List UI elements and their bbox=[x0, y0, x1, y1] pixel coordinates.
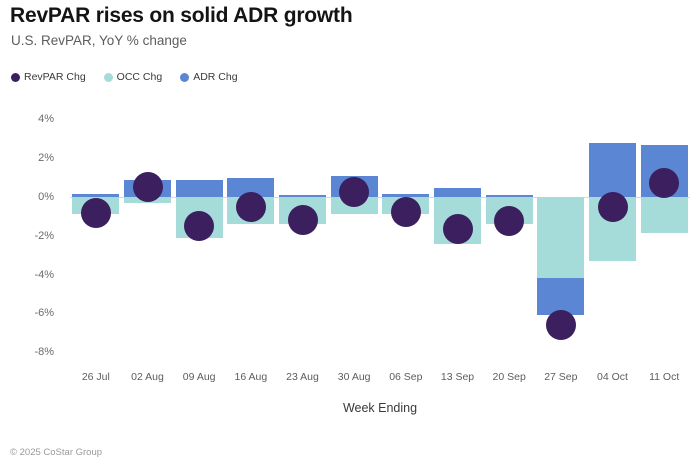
marker-revpar bbox=[288, 205, 318, 235]
x-axis-tick-label: 27 Sep bbox=[544, 371, 577, 383]
y-axis-tick-label: 2% bbox=[12, 152, 54, 164]
marker-revpar bbox=[494, 206, 524, 236]
y-axis-tick-label: -2% bbox=[12, 230, 54, 242]
marker-revpar bbox=[133, 172, 163, 202]
marker-revpar bbox=[339, 177, 369, 207]
bar-adr bbox=[589, 143, 636, 197]
y-axis-tick-label: -8% bbox=[12, 346, 54, 358]
marker-revpar bbox=[649, 168, 679, 198]
x-axis-tick-label: 11 Oct bbox=[649, 371, 679, 383]
x-axis-tick-label: 20 Sep bbox=[493, 371, 526, 383]
x-axis-tick-label: 06 Sep bbox=[389, 371, 422, 383]
y-axis-tick-label: -6% bbox=[12, 307, 54, 319]
bar-adr bbox=[176, 180, 223, 197]
marker-revpar bbox=[184, 211, 214, 241]
y-axis-tick-label: 0% bbox=[12, 191, 54, 203]
marker-revpar bbox=[81, 198, 111, 228]
bar-adr bbox=[486, 195, 533, 197]
marker-revpar bbox=[391, 197, 421, 227]
marker-revpar bbox=[546, 310, 576, 340]
x-axis-tick-label: 30 Aug bbox=[338, 371, 371, 383]
x-axis-tick-label: 26 Jul bbox=[82, 371, 110, 383]
marker-revpar bbox=[598, 192, 628, 222]
marker-revpar bbox=[443, 214, 473, 244]
x-axis-tick-label: 16 Aug bbox=[234, 371, 267, 383]
bar-adr bbox=[279, 195, 326, 197]
x-axis-tick-label: 09 Aug bbox=[183, 371, 216, 383]
plot-area: 4%2%0%-2%-4%-6%-8%26 Jul02 Aug09 Aug16 A… bbox=[0, 0, 696, 468]
bar-occ bbox=[537, 197, 584, 278]
chart-container: RevPAR rises on solid ADR growth U.S. Re… bbox=[0, 0, 696, 468]
x-axis-tick-label: 23 Aug bbox=[286, 371, 319, 383]
x-axis-tick-label: 13 Sep bbox=[441, 371, 474, 383]
marker-revpar bbox=[236, 192, 266, 222]
y-axis-tick-label: -4% bbox=[12, 269, 54, 281]
copyright-text: © 2025 CoStar Group bbox=[10, 447, 102, 458]
bar-adr bbox=[72, 194, 119, 197]
y-axis-tick-label: 4% bbox=[12, 113, 54, 125]
bar-occ bbox=[641, 197, 688, 233]
x-axis-title: Week Ending bbox=[343, 401, 417, 415]
x-axis-tick-label: 02 Aug bbox=[131, 371, 164, 383]
bar-adr bbox=[434, 188, 481, 197]
x-axis-tick-label: 04 Oct bbox=[597, 371, 628, 383]
